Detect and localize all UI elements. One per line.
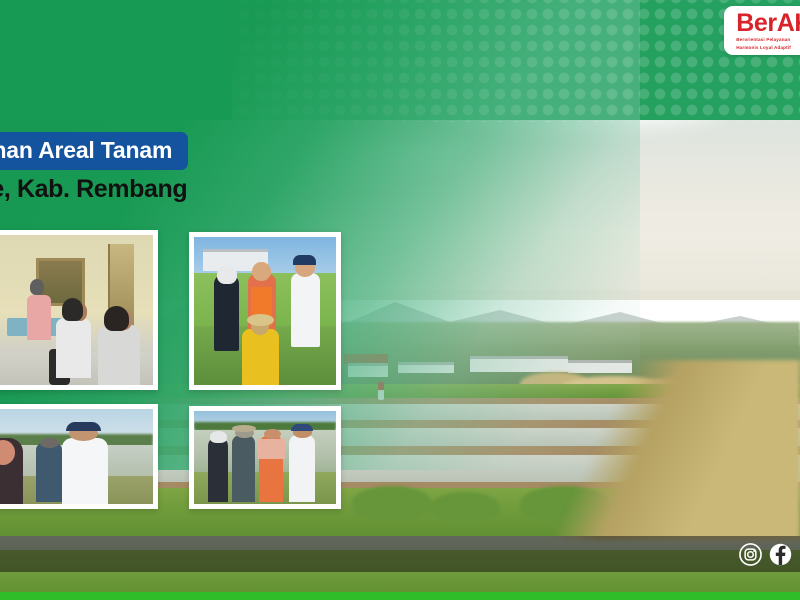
photo-field-inspection — [189, 232, 341, 390]
logo-wordmark: BerAK — [736, 11, 800, 36]
photo-field-inspection-image — [194, 237, 336, 385]
title-badge: bahan Areal Tanam — [0, 132, 188, 170]
photo-group-portrait — [189, 406, 341, 509]
person-head — [62, 298, 83, 321]
person-head — [252, 262, 270, 281]
facebook-icon[interactable] — [769, 543, 792, 566]
green-solid-corner — [0, 0, 232, 120]
person-hijab — [214, 274, 240, 351]
person-head — [104, 306, 128, 332]
banner-canvas: BerAK Berorientasi Pelayanan Harmonis Lo… — [0, 0, 800, 600]
berakhlak-logo: BerAK Berorientasi Pelayanan Harmonis Lo… — [724, 6, 800, 55]
person-hijab — [208, 437, 228, 502]
bottom-dark-strip — [0, 536, 800, 572]
photo-indoor-meeting — [0, 230, 158, 390]
instagram-icon[interactable] — [739, 543, 762, 566]
person-head — [264, 429, 281, 439]
person-scarf — [258, 439, 285, 459]
logo-tagline-line2: Harmonis Loyal Adaptif — [736, 45, 800, 52]
grass-clump — [430, 492, 500, 522]
grass-clump — [352, 486, 432, 520]
person-head — [217, 265, 237, 284]
photo-field-visit-image — [0, 409, 153, 504]
person-seated — [56, 318, 92, 378]
person-white-shirt — [289, 435, 315, 502]
person-hat — [232, 435, 255, 502]
person-head — [210, 431, 227, 442]
person-cap — [66, 422, 102, 431]
title-block: bahan Areal Tanam uke, Kab. Rembang — [0, 132, 188, 203]
person-head — [40, 438, 59, 448]
person-cap — [293, 255, 316, 265]
halftone-dot-pattern — [200, 0, 800, 122]
farmer-yellow-shirt — [242, 329, 279, 385]
person-blue-shirt — [36, 443, 62, 502]
straw-hat — [247, 314, 274, 326]
person-seated — [98, 325, 140, 385]
social-links — [739, 543, 792, 566]
person-head — [30, 279, 45, 296]
person-white-shirt — [62, 438, 107, 505]
logo-tagline-line1: Berorientasi Pelayanan — [736, 37, 800, 44]
title-subtitle: uke, Kab. Rembang — [0, 176, 188, 204]
person-standing — [27, 295, 51, 340]
person-cap — [291, 424, 314, 431]
photo-indoor-meeting-image — [0, 235, 153, 385]
photo-field-visit — [0, 404, 158, 509]
person-white-shirt — [291, 273, 321, 347]
photo-group-portrait-image — [194, 411, 336, 504]
bottom-accent-bar — [0, 592, 800, 600]
